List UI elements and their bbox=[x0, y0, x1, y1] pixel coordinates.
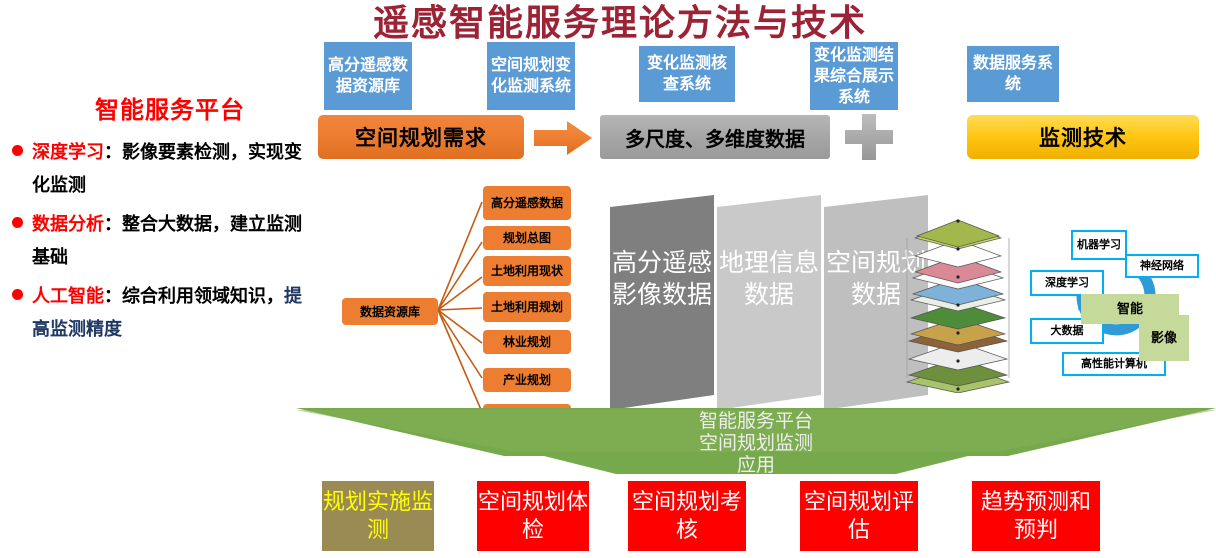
system-box-3[interactable]: 变化监测结果综合展示系统 bbox=[810, 42, 898, 110]
bullet-dot-icon bbox=[12, 145, 23, 156]
bullet-dot-icon bbox=[12, 217, 23, 228]
bullet-text: 深度学习：影像要素检测，实现变化监测 bbox=[32, 136, 306, 202]
data-type-shape-0[interactable] bbox=[610, 195, 714, 410]
data-type-shape-1[interactable] bbox=[717, 195, 821, 410]
left-panel-bullets: 深度学习：影像要素检测，实现变化监测 数据分析：整合大数据，建立监测基础 人工智… bbox=[6, 136, 306, 352]
resource-leaf-0[interactable]: 高分遥感数据 bbox=[483, 186, 571, 220]
bullet-dot-icon bbox=[12, 289, 23, 300]
demand-bar[interactable]: 空间规划需求 bbox=[318, 115, 524, 159]
ai-box-deep-learning[interactable]: 深度学习 bbox=[1030, 270, 1104, 296]
bullet-text: 数据分析：整合大数据，建立监测基础 bbox=[32, 208, 306, 274]
resource-leaf-5[interactable]: 产业规划 bbox=[483, 368, 571, 392]
application-box-2[interactable]: 空间规划考核 bbox=[628, 481, 746, 551]
ai-green-image[interactable]: 影像 bbox=[1139, 315, 1189, 361]
list-item: 数据分析：整合大数据，建立监测基础 bbox=[6, 208, 306, 274]
list-item: 人工智能：综合利用领域知识，提高监测精度 bbox=[6, 280, 306, 346]
application-box-0[interactable]: 规划实施监测 bbox=[322, 481, 434, 551]
resource-leaf-4[interactable]: 林业规划 bbox=[483, 330, 571, 354]
arrow-right-icon bbox=[534, 120, 592, 156]
bullet-separator: ： bbox=[104, 142, 122, 162]
resource-tree-root[interactable]: 数据资源库 bbox=[342, 298, 438, 325]
resource-leaf-1[interactable]: 规划总图 bbox=[483, 226, 571, 250]
system-box-2[interactable]: 变化监测核查系统 bbox=[639, 46, 735, 102]
gis-layer-stack-icon bbox=[893, 218, 1023, 393]
system-box-0[interactable]: 高分遥感数据资源库 bbox=[324, 42, 412, 110]
resource-leaf-2[interactable]: 土地利用现状 bbox=[483, 256, 571, 286]
resource-leaf-3[interactable]: 土地利用规划 bbox=[483, 292, 571, 322]
bullet-text: 人工智能：综合利用领域知识，提高监测精度 bbox=[32, 280, 306, 346]
bullet-separator: ： bbox=[104, 286, 122, 306]
left-panel-heading: 智能服务平台 bbox=[40, 90, 300, 125]
bullet-keyword: 数据分析 bbox=[32, 214, 104, 234]
application-box-3[interactable]: 空间规划评估 bbox=[800, 481, 918, 551]
slide-canvas: 遥感智能服务理论方法与技术 智能服务平台 深度学习：影像要素检测，实现变化监测 … bbox=[0, 0, 1216, 558]
bullet-separator: ： bbox=[104, 214, 122, 234]
platform-band-shape bbox=[296, 408, 1216, 478]
system-box-1[interactable]: 空间规划变化监测系统 bbox=[487, 42, 575, 110]
ai-concept-diagram: 机器学习 神经网络 深度学习 大数据 高性能计算机 智能 影像 bbox=[1022, 222, 1212, 402]
multiscale-data-bar[interactable]: 多尺度、多维度数据 bbox=[600, 115, 830, 159]
bullet-keyword: 深度学习 bbox=[32, 142, 104, 162]
plus-icon bbox=[845, 114, 893, 160]
ai-box-machine-learning[interactable]: 机器学习 bbox=[1071, 230, 1127, 260]
bullet-keyword: 人工智能 bbox=[32, 286, 104, 306]
list-item: 深度学习：影像要素检测，实现变化监测 bbox=[6, 136, 306, 202]
application-box-1[interactable]: 空间规划体检 bbox=[477, 481, 589, 551]
ai-box-neural-network[interactable]: 神经网络 bbox=[1125, 254, 1199, 278]
bullet-rest: 综合利用领域知识， bbox=[122, 286, 284, 306]
page-title: 遥感智能服务理论方法与技术 bbox=[300, 0, 940, 46]
monitoring-tech-bar[interactable]: 监测技术 bbox=[967, 115, 1199, 159]
application-box-4[interactable]: 趋势预测和预判 bbox=[972, 481, 1100, 551]
system-box-4[interactable]: 数据服务系统 bbox=[967, 46, 1059, 102]
